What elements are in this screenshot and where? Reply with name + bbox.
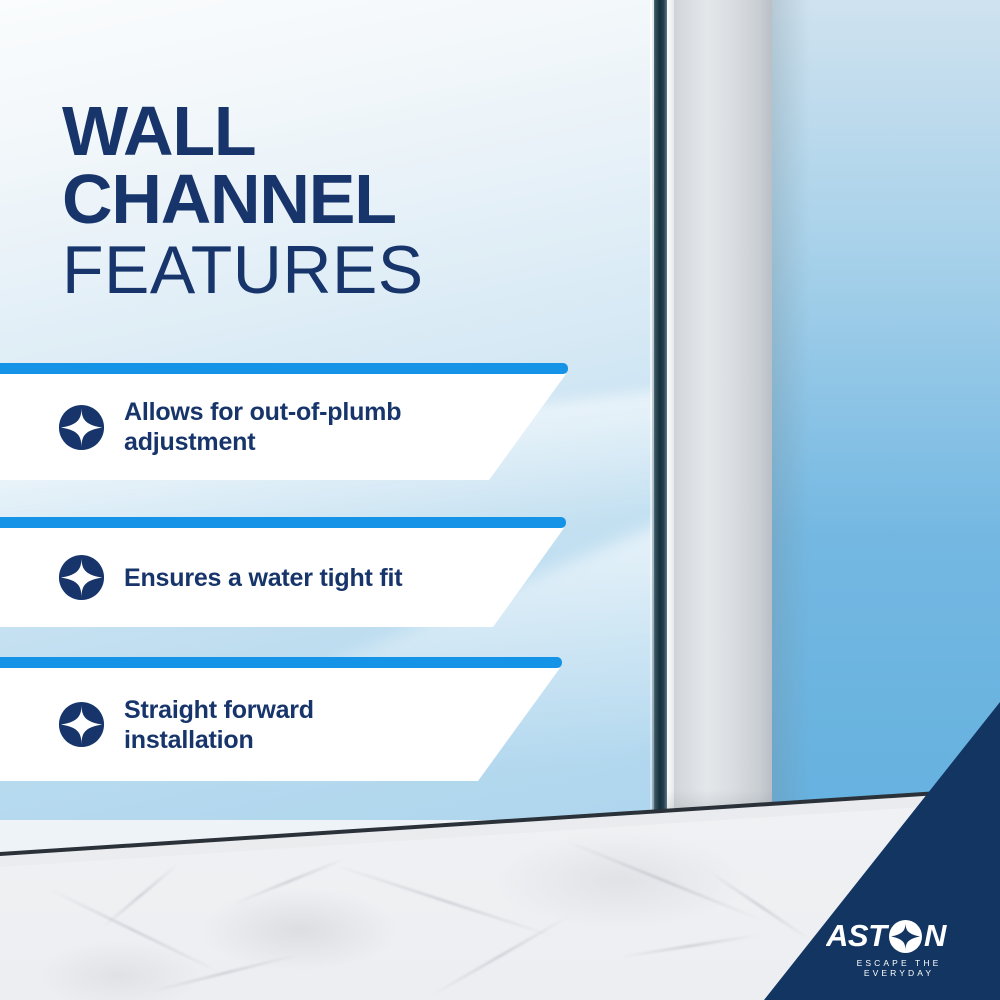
brand-tagline: ESCAPE THE EVERYDAY <box>826 958 972 978</box>
card-surface: Straight forward installation <box>0 668 568 781</box>
logo-text-part2: N <box>924 918 947 953</box>
wall-channel-highlight <box>666 0 674 838</box>
four-point-star-icon <box>58 701 105 748</box>
title-line-2: CHANNEL <box>62 166 424 234</box>
card-content: Ensures a water tight fit <box>58 528 402 627</box>
card-surface: Allows for out-of-plumb adjustment <box>0 374 575 480</box>
blue-wall-shadow <box>770 0 810 862</box>
feature-text: Straight forward installation <box>124 695 314 755</box>
card-content: Allows for out-of-plumb adjustment <box>58 374 401 480</box>
aston-wordmark: AST N <box>826 916 972 956</box>
card-content: Straight forward installation <box>58 668 314 781</box>
card-accent-bar <box>0 517 566 528</box>
glass-panel-edge <box>652 0 667 840</box>
poster-canvas: WALL CHANNEL FEATURES Allows for out-of-… <box>0 0 1000 1000</box>
aston-logo: AST N <box>826 916 972 961</box>
four-point-star-icon <box>58 404 105 451</box>
feature-text: Allows for out-of-plumb adjustment <box>124 397 401 457</box>
page-title: WALL CHANNEL FEATURES <box>62 98 424 304</box>
four-point-star-circle-icon <box>889 920 922 953</box>
feature-text: Ensures a water tight fit <box>124 563 402 593</box>
glass-edge-highlight <box>650 0 654 840</box>
logo-text-part1: AST <box>826 918 890 953</box>
title-line-3: FEATURES <box>62 238 424 304</box>
card-surface: Ensures a water tight fit <box>0 528 572 627</box>
card-accent-bar <box>0 363 568 374</box>
four-point-star-icon <box>58 554 105 601</box>
card-accent-bar <box>0 657 562 668</box>
wall-channel-panel <box>666 0 772 838</box>
title-line-1: WALL <box>62 98 424 166</box>
